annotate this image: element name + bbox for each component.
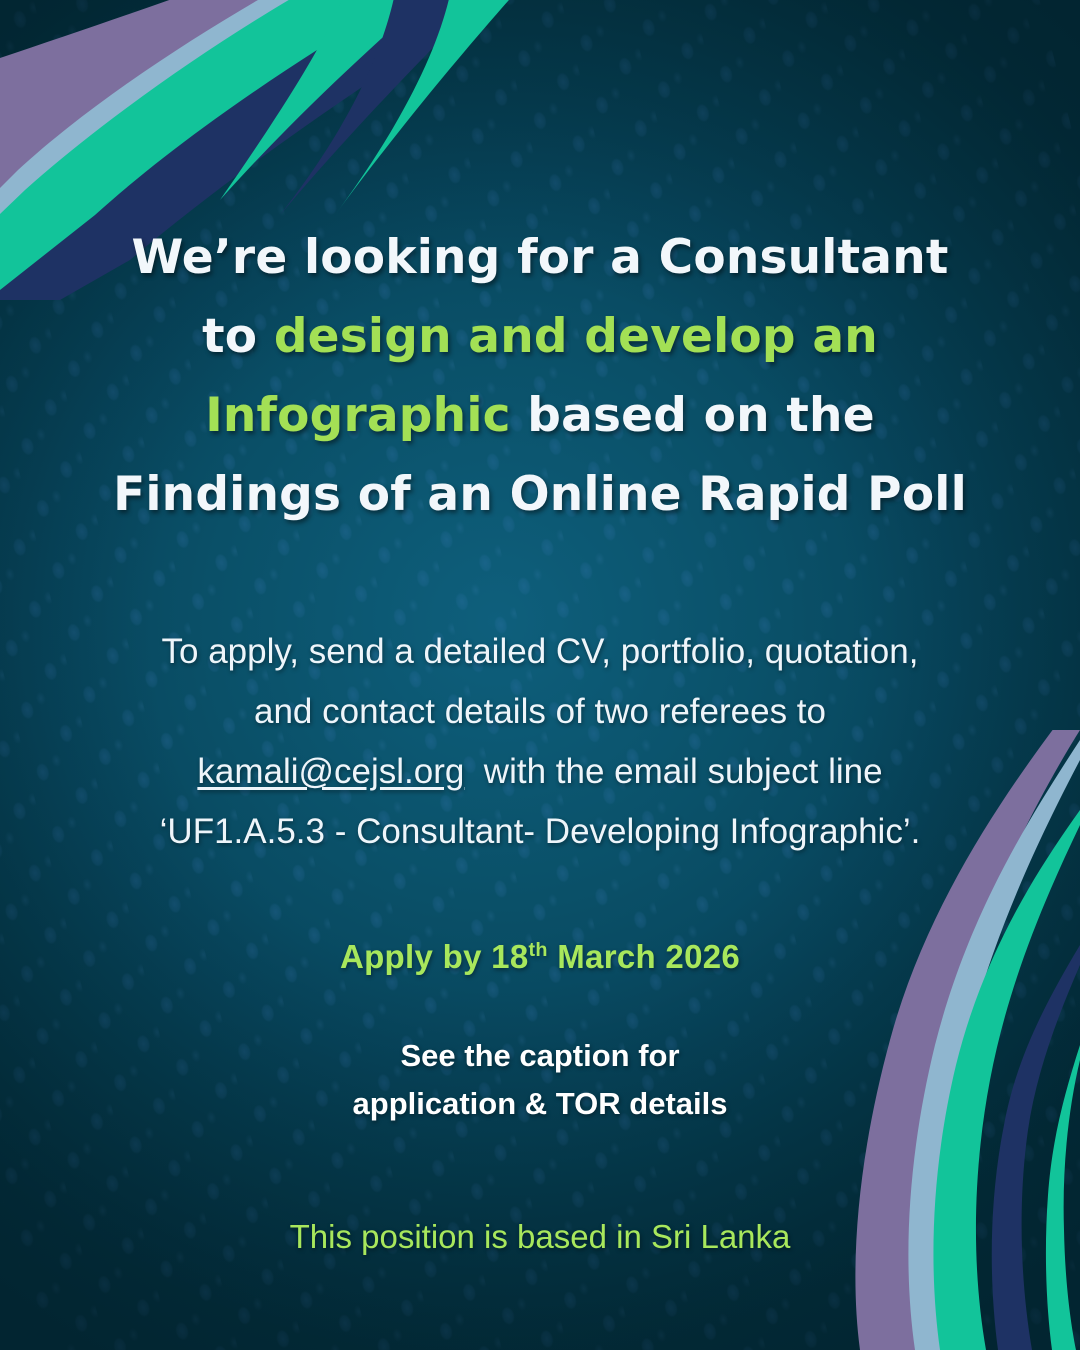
headline-line-1: We’re looking for a Consultant — [90, 218, 990, 297]
caption-note-line-2: application & TOR details — [353, 1080, 728, 1128]
headline-line-3-accent: Infographic — [205, 388, 511, 443]
deadline-text: Apply by 18th March 2026 — [340, 938, 740, 976]
deadline-suffix: March 2026 — [548, 938, 740, 975]
headline-line-3: Infographic based on the — [90, 376, 990, 455]
apply-line-3-tail: with the email subject line — [464, 752, 882, 791]
apply-line-2: and contact details of two referees to — [100, 682, 980, 742]
apply-line-3: kamali@cejsl.org with the email subject … — [100, 742, 980, 802]
headline-line-2-text: to — [202, 309, 274, 364]
headline-line-2: to design and develop an — [90, 297, 990, 376]
deadline-prefix: Apply by 18 — [340, 938, 529, 975]
headline-line-1-text: We’re looking for a Consultant — [131, 230, 948, 285]
email-link[interactable]: kamali@cejsl.org — [197, 752, 464, 791]
deadline-ordinal: th — [529, 939, 548, 961]
poster-canvas: We’re looking for a Consultant to design… — [0, 0, 1080, 1350]
apply-line-4: ‘UF1.A.5.3 - Consultant- Developing Info… — [100, 802, 980, 862]
application-instructions: To apply, send a detailed CV, portfolio,… — [100, 622, 980, 862]
caption-note-line-1: See the caption for — [353, 1032, 728, 1080]
poster-content: We’re looking for a Consultant to design… — [0, 0, 1080, 1350]
location-note: This position is based in Sri Lanka — [290, 1218, 791, 1256]
headline-line-4-text: Findings of an Online Rapid Poll — [113, 467, 967, 522]
apply-line-1: To apply, send a detailed CV, portfolio,… — [100, 622, 980, 682]
headline-line-4: Findings of an Online Rapid Poll — [90, 455, 990, 534]
headline-line-3-text: based on the — [511, 388, 875, 443]
headline-line-2-accent: design and develop an — [274, 309, 878, 364]
caption-note: See the caption for application & TOR de… — [353, 1032, 728, 1128]
page-title: We’re looking for a Consultant to design… — [90, 218, 990, 534]
